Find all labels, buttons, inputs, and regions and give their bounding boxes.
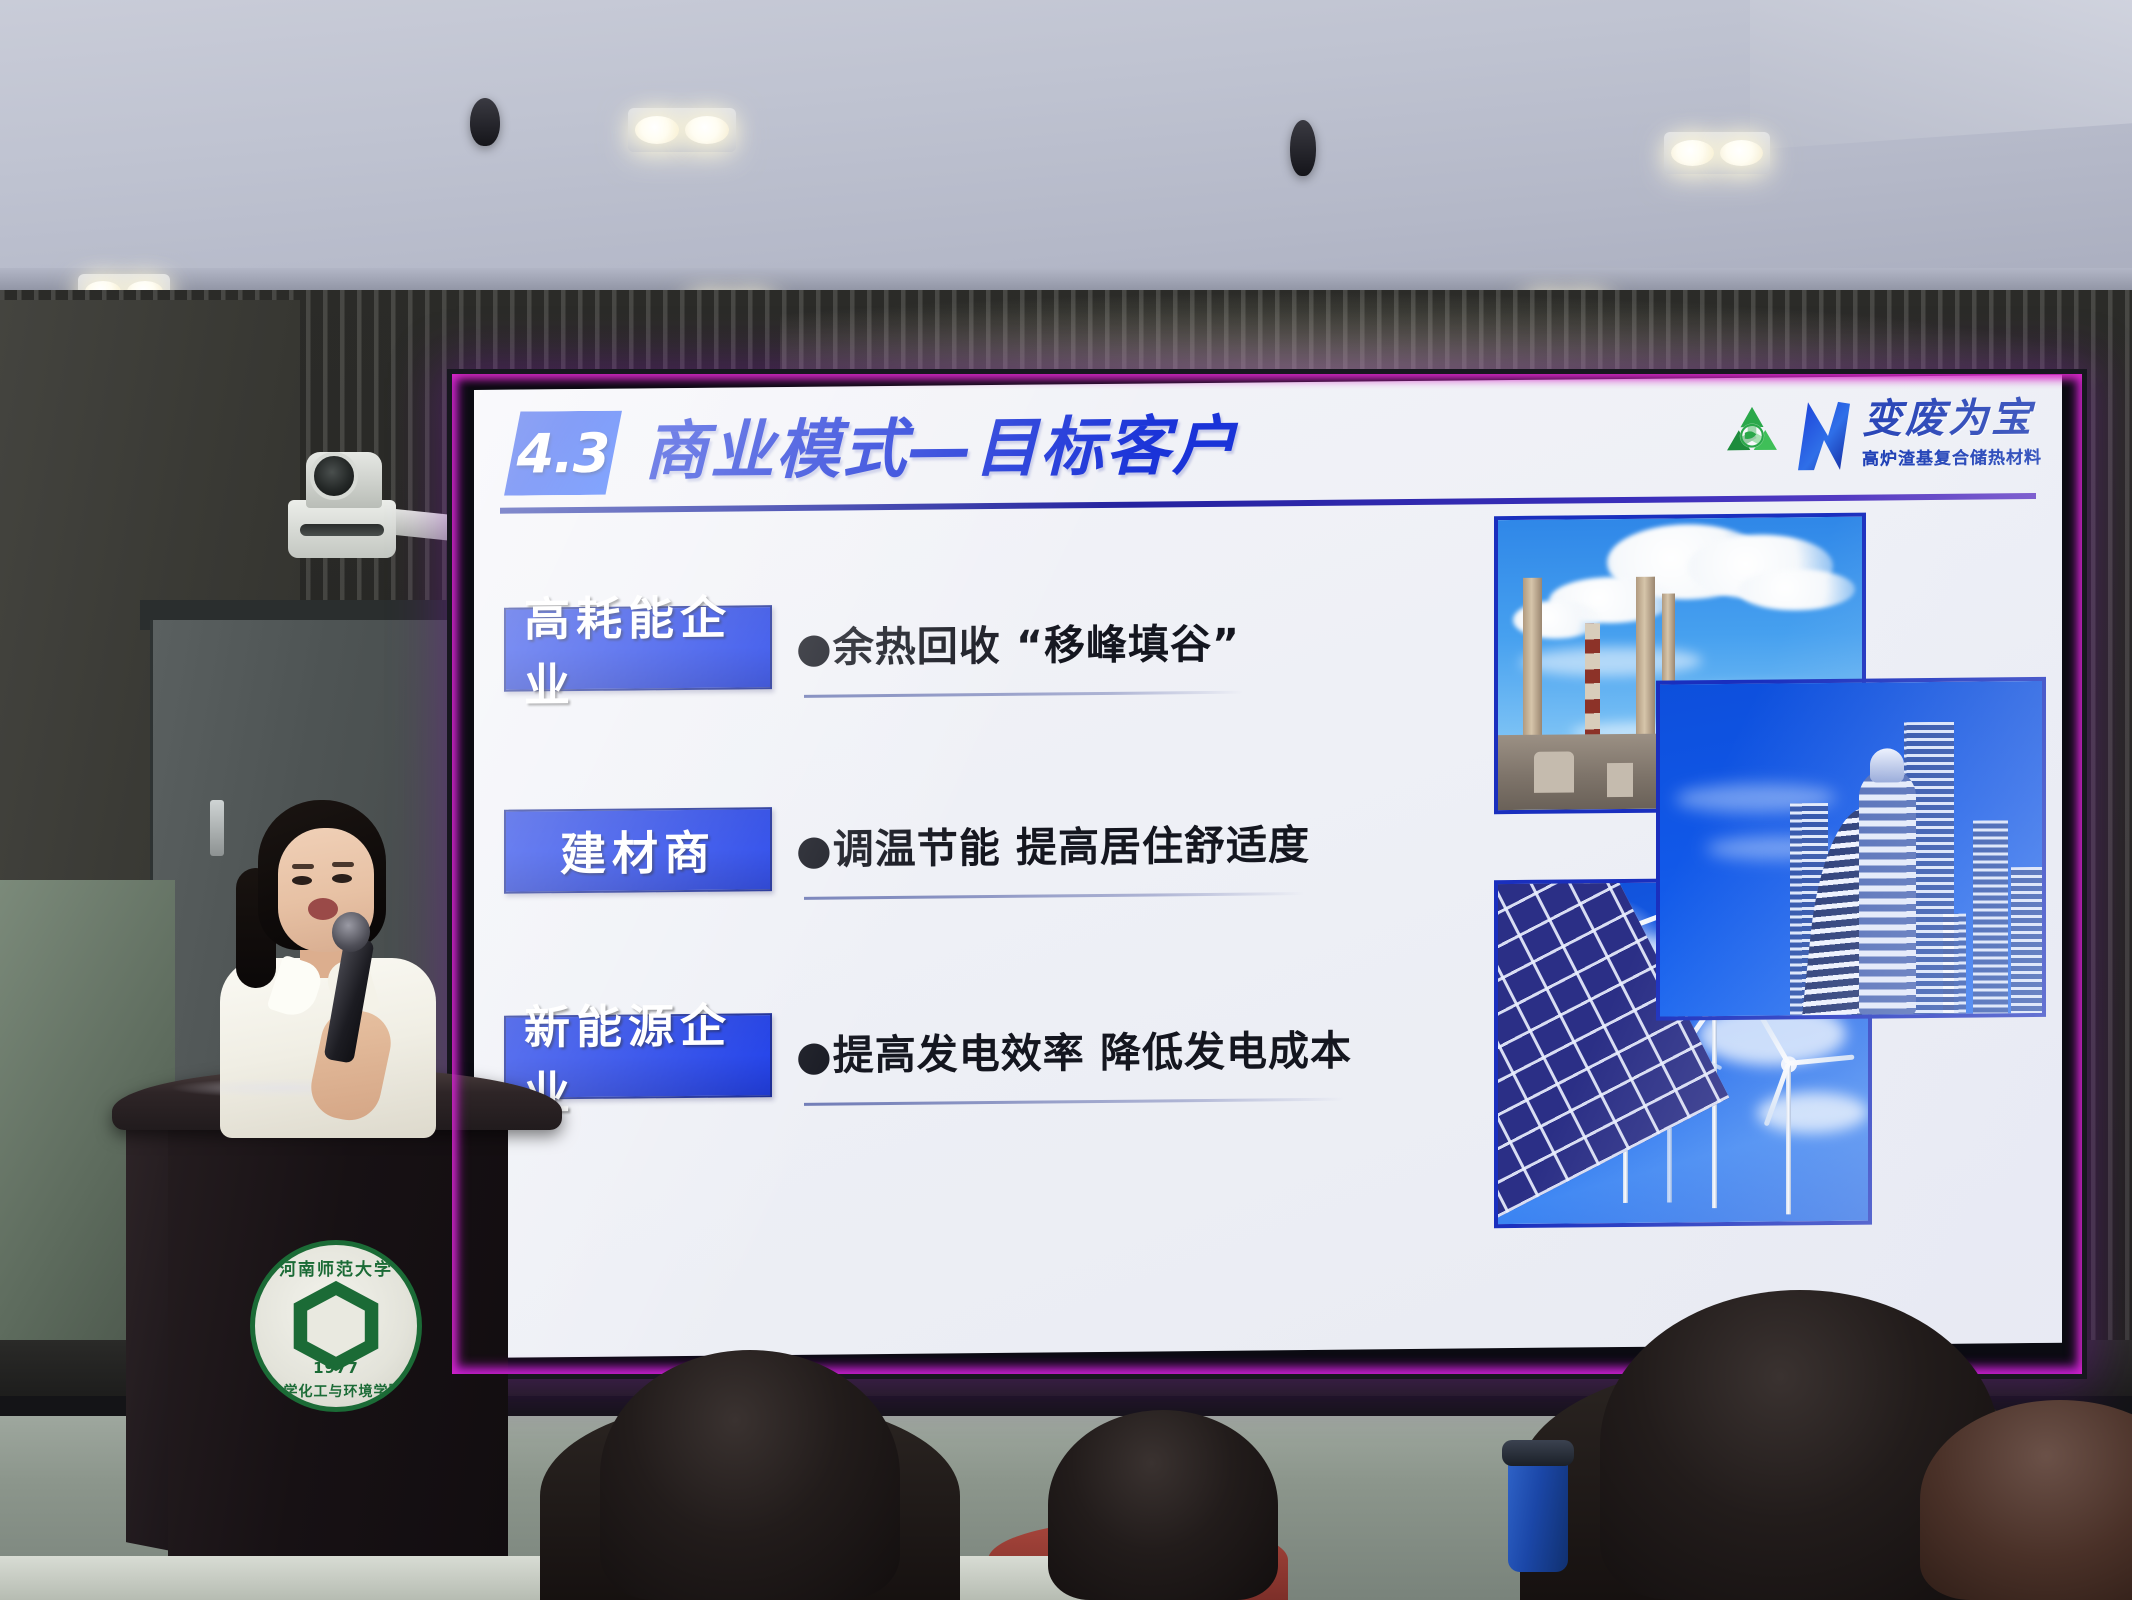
university-emblem: 河南师范大学 1977 化学化工与环境学院 (250, 1240, 422, 1412)
presentation-photo: 4.3 商业模式—目标客户 (0, 0, 2132, 1600)
bullet-underline-3 (804, 1098, 1344, 1106)
customer-row-3: 新能源企业 ●提高发电效率 降低发电成本 (504, 1006, 1504, 1106)
customer-label-2: 建材商 (504, 807, 772, 894)
logo-text-block: 变废为宝 高炉渣基复合储热材料 (1862, 398, 2042, 470)
page-title: 商业模式—目标客户 (644, 395, 1238, 493)
camera-lens-icon (310, 452, 358, 500)
customer-bullet-3: ●提高发电效率 降低发电成本 (796, 1012, 1352, 1095)
customer-bullet-2: ●调温节能 提高居住舒适度 (796, 806, 1310, 889)
blue-water-bottle-lid (1502, 1440, 1574, 1466)
ceiling-speaker-icon (470, 98, 500, 146)
emblem-university-name: 河南师范大学 (255, 1255, 417, 1280)
recycle-icon (1716, 399, 1788, 472)
customer-row-1: 高耗能企业 ●余热回收 “移峰填谷” (504, 598, 1504, 698)
logo-sub-text: 高炉渣基复合储热材料 (1862, 443, 2042, 470)
letter-n-mark-icon (1794, 396, 1856, 475)
customer-bullet-1: ●余热回收 “移峰填谷” (796, 605, 1240, 687)
door-handle[interactable] (210, 800, 224, 856)
speaker-eye (292, 876, 312, 885)
customer-row-2: 建材商 ●调温节能 提高居住舒适度 (504, 800, 1504, 900)
logo-main-text: 变废为宝 (1862, 398, 2042, 440)
brand-logo: 变废为宝 高炉渣基复合储热材料 (1716, 385, 2046, 484)
presentation-slide[interactable]: 4.3 商业模式—目标客户 (474, 375, 2062, 1358)
ceiling-downlight-icon (1664, 132, 1770, 174)
emblem-college-name: 化学化工与环境学院 (255, 1381, 417, 1401)
wind-turbine-icon (1787, 1045, 1791, 1215)
audience-head (1048, 1410, 1278, 1600)
bullet-underline-2 (804, 892, 1304, 900)
ceiling-speaker-icon (1290, 120, 1316, 176)
city-skyscrapers-photo (1656, 677, 2046, 1021)
ceiling-downlight-icon (628, 108, 736, 152)
speaker-mouth (308, 898, 338, 920)
customer-label-1: 高耗能企业 (504, 605, 772, 692)
customer-label-3: 新能源企业 (504, 1013, 772, 1100)
blue-water-bottle (1508, 1452, 1568, 1572)
section-number-badge: 4.3 (504, 411, 622, 496)
speaker-brow (332, 862, 354, 867)
bullet-underline-1 (804, 691, 1244, 698)
speaker-brow (292, 864, 314, 869)
speaker-eye (332, 874, 352, 883)
emblem-year: 1977 (255, 1359, 417, 1377)
camera-indicator-strip (300, 524, 384, 536)
audience-head (600, 1350, 900, 1600)
